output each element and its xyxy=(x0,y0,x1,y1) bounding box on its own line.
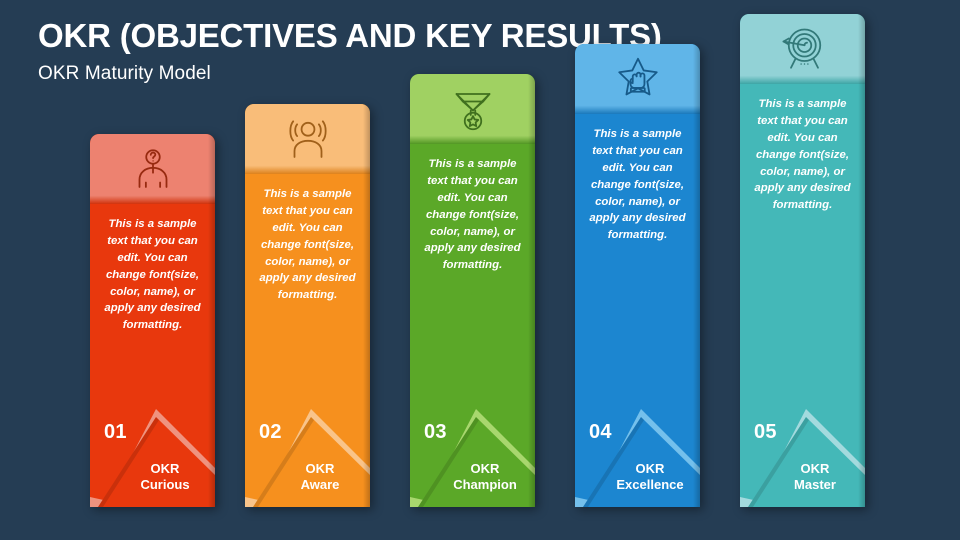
icon-band xyxy=(410,74,535,144)
medal-icon xyxy=(449,85,497,133)
icon-band xyxy=(575,44,700,114)
column-body: This is a sample text that you can edit.… xyxy=(245,174,370,507)
maturity-columns: This is a sample text that you can edit.… xyxy=(0,0,960,540)
maturity-column-04[interactable]: This is a sample text that you can edit.… xyxy=(575,44,700,507)
target-arrow-icon xyxy=(779,25,827,73)
maturity-column-03[interactable]: This is a sample text that you can edit.… xyxy=(410,74,535,507)
icon-band xyxy=(740,14,865,84)
column-inner: This is a sample text that you can edit.… xyxy=(575,44,700,507)
column-body: This is a sample text that you can edit.… xyxy=(90,204,215,507)
column-inner: This is a sample text that you can edit.… xyxy=(740,14,865,507)
column-inner: This is a sample text that you can edit.… xyxy=(245,104,370,507)
column-body: This is a sample text that you can edit.… xyxy=(575,114,700,507)
column-body-text: This is a sample text that you can edit.… xyxy=(254,186,361,304)
column-body: This is a sample text that you can edit.… xyxy=(740,84,865,507)
maturity-column-01[interactable]: This is a sample text that you can edit.… xyxy=(90,134,215,507)
person-question-icon xyxy=(129,145,177,193)
column-inner: This is a sample text that you can edit.… xyxy=(90,134,215,507)
column-body-text: This is a sample text that you can edit.… xyxy=(749,96,856,214)
maturity-column-02[interactable]: This is a sample text that you can edit.… xyxy=(245,104,370,507)
person-signal-icon xyxy=(284,115,332,163)
column-body-text: This is a sample text that you can edit.… xyxy=(584,126,691,244)
maturity-column-05[interactable]: This is a sample text that you can edit.… xyxy=(740,14,865,507)
column-body-text: This is a sample text that you can edit.… xyxy=(99,216,206,334)
icon-band xyxy=(245,104,370,174)
column-body: This is a sample text that you can edit.… xyxy=(410,144,535,507)
column-body-text: This is a sample text that you can edit.… xyxy=(419,156,526,274)
icon-band xyxy=(90,134,215,204)
column-inner: This is a sample text that you can edit.… xyxy=(410,74,535,507)
star-fist-icon xyxy=(614,55,662,103)
